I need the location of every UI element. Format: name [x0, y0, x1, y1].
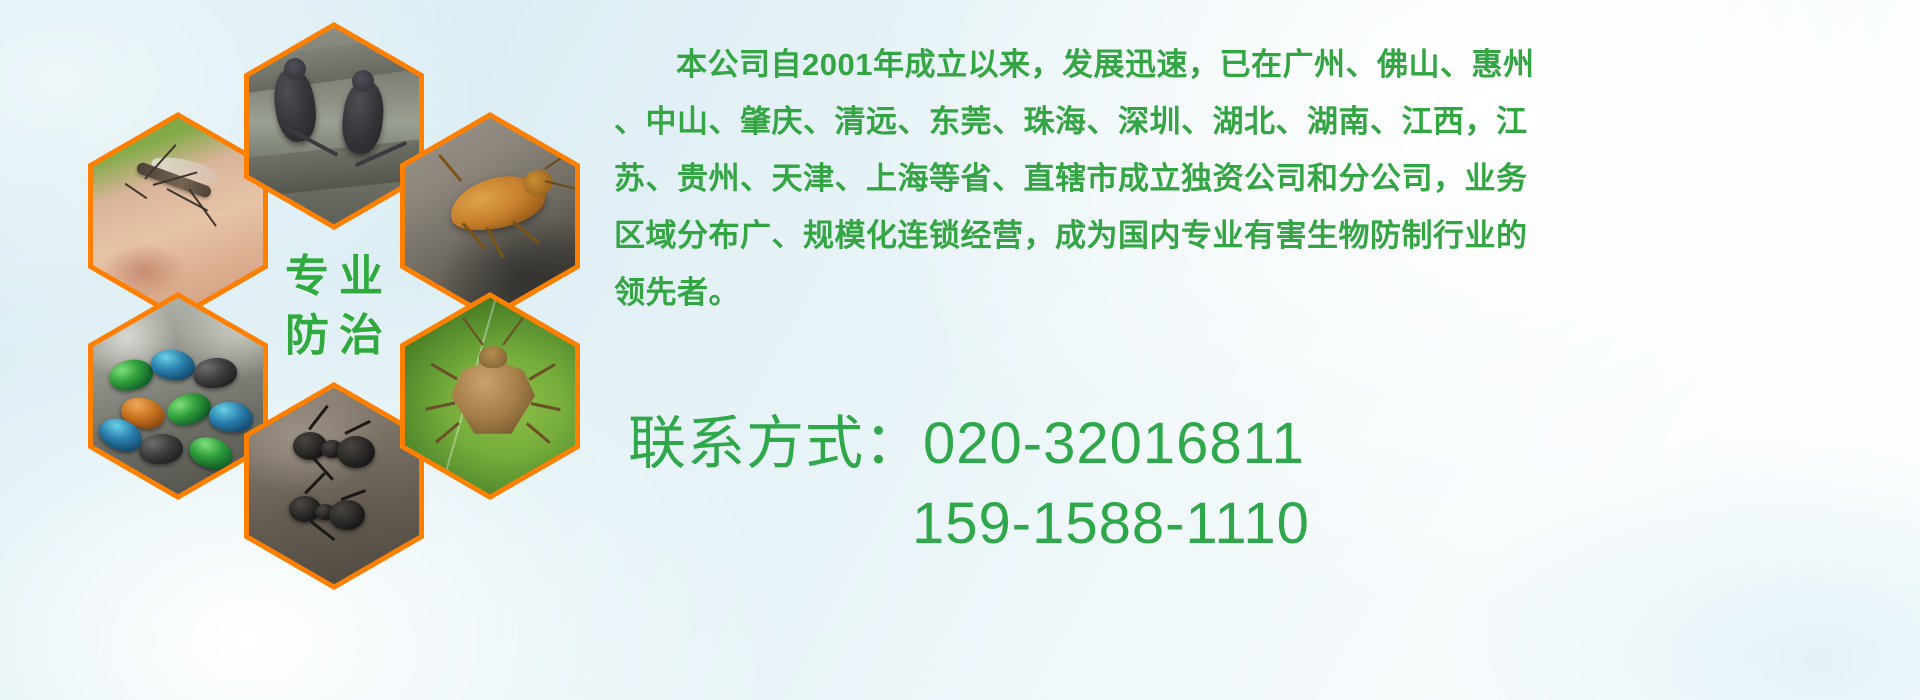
contact-block: 联系方式：020-32016811 159-1588-1110	[628, 404, 1908, 564]
contact-phone-secondary[interactable]: 159-1588-1110	[628, 484, 1908, 564]
stinkbug-body-shape	[451, 360, 535, 434]
hex-photo-frame	[93, 118, 263, 314]
mosquito-photo	[93, 118, 263, 314]
fly-shape	[106, 356, 155, 394]
fly-shape	[149, 347, 197, 383]
intro-line: 苏、贵州、天津、上海等省、直辖市成立独资公司和分公司，业务	[614, 150, 1904, 207]
rat-head-shape	[352, 70, 374, 92]
cockroach-antenna-shape	[544, 138, 575, 170]
logo-text-line2: 防治	[275, 306, 393, 365]
fly-shape	[208, 400, 255, 434]
honeycomb-gallery: 专业 防治	[88, 8, 588, 568]
ant-leg-shape	[344, 420, 370, 435]
fly-photo	[93, 298, 263, 494]
hex-photo-frame	[405, 118, 575, 314]
cockroach-leg-shape	[512, 220, 540, 244]
mosquito-proboscis-shape	[125, 183, 148, 199]
hex-photo-frame	[93, 298, 263, 494]
hex-photo-frame	[249, 28, 419, 224]
hex-cell-ant[interactable]	[244, 382, 424, 590]
rat-photo	[249, 28, 419, 224]
fly-shape	[164, 388, 215, 429]
company-intro-paragraph: 本公司自2001年成立以来，发展迅速，已在广州、佛山、惠州 、中山、肇庆、清远、…	[614, 36, 1904, 321]
stinkbug-leg-shape	[528, 363, 555, 380]
stinkbug-leg-shape	[430, 363, 457, 380]
intro-line: 本公司自2001年成立以来，发展迅速，已在广州、佛山、惠州	[614, 36, 1904, 93]
hex-cell-cockroach[interactable]	[400, 112, 580, 320]
ant-leg-shape	[304, 472, 325, 494]
stinkbug-antenna-shape	[462, 317, 484, 346]
hex-cell-mosquito[interactable]	[88, 112, 268, 320]
stinkbug-leg-shape	[531, 402, 561, 411]
intro-line: 、中山、肇庆、清远、东莞、珠海、深圳、湖北、湖南、江西，江	[614, 93, 1904, 150]
ant-head-shape	[329, 500, 365, 530]
hex-cell-fly[interactable]	[88, 292, 268, 500]
stinkbug-head-shape	[479, 346, 507, 368]
rat-head-shape	[284, 58, 306, 80]
hex-photo-frame	[405, 298, 575, 494]
ant-leg-shape	[308, 405, 328, 430]
ant-photo	[249, 388, 419, 584]
ant-leg-shape	[341, 489, 366, 500]
stinkbug-photo	[405, 298, 575, 494]
hex-cell-stinkbug[interactable]	[400, 292, 580, 500]
plank-shape	[249, 32, 419, 94]
contact-phone-primary[interactable]: 联系方式：020-32016811	[628, 404, 1908, 484]
logo-text-line1: 专业	[275, 247, 393, 306]
honeycomb-center-label: 专业 防治	[244, 202, 424, 410]
promo-banner: 专业 防治 本公司自2001年成立以来，发展迅速，已在广州、佛山、惠州 、中山、…	[0, 0, 1920, 700]
intro-line: 区域分布广、规模化连锁经营，成为国内专业有害生物防制行业的	[614, 207, 1904, 264]
fly-shape	[192, 356, 239, 390]
stinkbug-antenna-shape	[502, 317, 524, 346]
stinkbug-leg-shape	[526, 422, 551, 443]
cockroach-leg-shape	[486, 226, 504, 257]
ant-head-shape	[337, 436, 375, 468]
fly-shape	[185, 432, 236, 474]
cockroach-leg-shape	[438, 154, 462, 182]
fly-shape	[138, 432, 184, 465]
ant-leg-shape	[312, 456, 334, 480]
stinkbug-leg-shape	[425, 402, 455, 411]
cockroach-photo	[405, 118, 575, 314]
hex-cell-rat[interactable]	[244, 22, 424, 230]
intro-line: 领先者。	[614, 264, 1904, 321]
hex-photo-frame	[249, 388, 419, 584]
